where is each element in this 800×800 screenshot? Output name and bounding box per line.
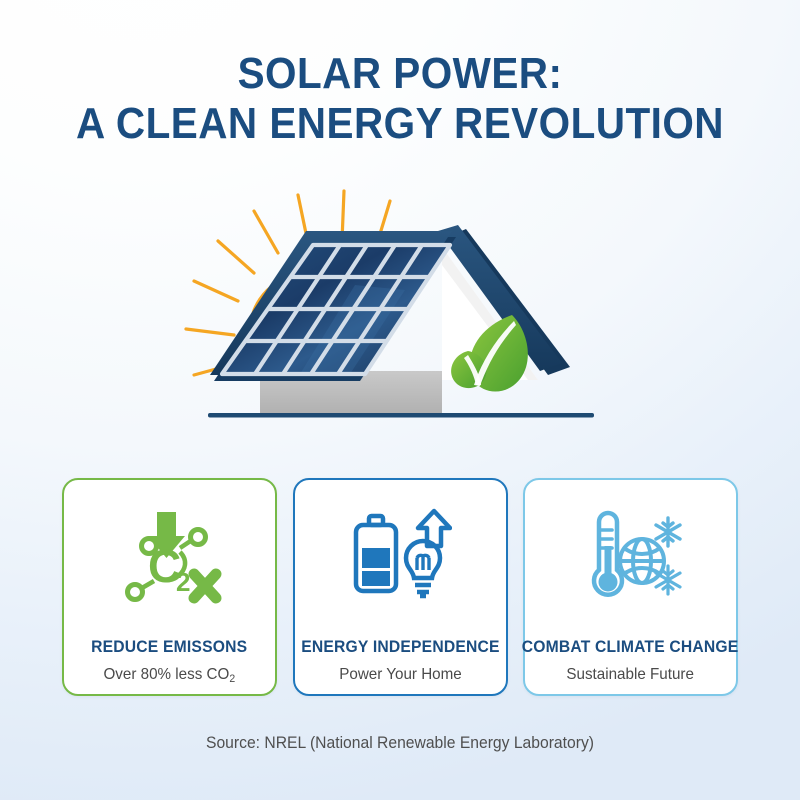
card-title: REDUCE EMISSONS: [91, 638, 247, 657]
card-subtitle: Power Your Home: [339, 666, 462, 684]
card-energy-independence[interactable]: ENERGY INDEPENDENCE Power Your Home: [293, 478, 508, 696]
card-subtitle: Over 80% less CO2: [104, 666, 236, 684]
infographic-poster: SOLAR POWER: A CLEAN ENERGY REVOLUTION: [0, 0, 800, 800]
snowflake-top: [656, 518, 680, 546]
card-subtitle-subscript: 2: [230, 673, 236, 685]
snowflake-bottom: [656, 566, 680, 594]
battery-lightbulb-arrow-icon: [344, 506, 456, 610]
source-attribution: Source: NREL (National Renewable Energy …: [20, 734, 780, 753]
card-subtitle: Sustainable Future: [567, 666, 695, 684]
co2-reduction-icon: C 2: [114, 506, 226, 610]
card-title: ENERGY INDEPENDENCE: [301, 638, 499, 657]
title-line-secondary: A CLEAN ENERGY REVOLUTION: [32, 102, 768, 147]
card-subtitle-text: Power Your Home: [339, 666, 462, 683]
card-subtitle-text: Over 80% less CO: [104, 666, 230, 683]
card-reduce-emissions[interactable]: C 2 REDUCE EMISSONS Over 80% less CO2: [62, 478, 277, 696]
thermometer-globe-snowflake-icon: [575, 506, 687, 610]
poster-title: SOLAR POWER: A CLEAN ENERGY REVOLUTION: [0, 52, 800, 147]
svg-text:2: 2: [176, 567, 190, 597]
title-line-primary: SOLAR POWER:: [32, 52, 768, 97]
card-combat-climate-change[interactable]: COMBAT CLIMATE CHANGE Sustainable Future: [523, 478, 738, 696]
house-with-solar-panel-illustration: [150, 185, 650, 435]
benefit-cards-row: C 2 REDUCE EMISSONS Over 80% less CO2: [62, 478, 738, 696]
ground-line: [208, 413, 594, 418]
card-title: COMBAT CLIMATE CHANGE: [522, 638, 739, 657]
card-subtitle-text: Sustainable Future: [567, 666, 695, 683]
